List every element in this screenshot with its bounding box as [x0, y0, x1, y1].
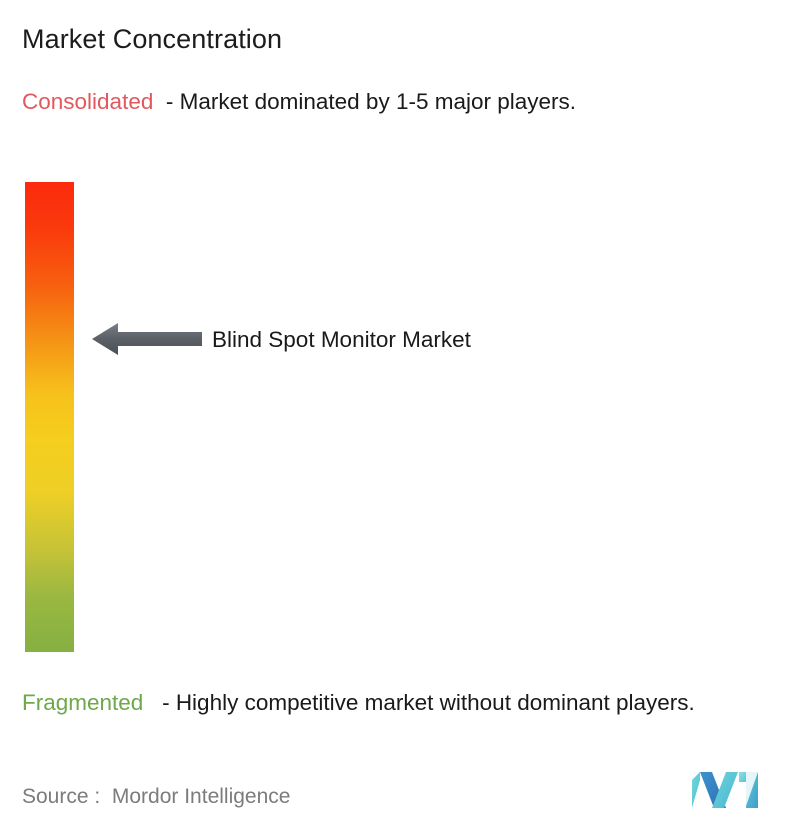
source-attribution: Source : Mordor Intelligence — [22, 783, 290, 811]
legend-fragmented-separator: - — [143, 690, 176, 715]
mordor-intelligence-logo-icon — [692, 772, 764, 808]
legend-consolidated-keyword: Consolidated — [22, 89, 153, 114]
concentration-gradient-bar — [25, 182, 74, 652]
market-position-marker: Blind Spot Monitor Market — [92, 320, 471, 358]
legend-consolidated-description: Market dominated by 1-5 major players. — [180, 89, 576, 114]
market-pointer-label: Blind Spot Monitor Market — [212, 326, 471, 354]
legend-fragmented-description: Highly competitive market without domina… — [176, 690, 695, 715]
legend-consolidated: Consolidated - Market dominated by 1-5 m… — [22, 86, 774, 118]
legend-fragmented-keyword: Fragmented — [22, 690, 143, 715]
legend-consolidated-separator: - — [153, 89, 179, 114]
legend-fragmented: Fragmented - Highly competitive market w… — [22, 687, 788, 719]
page-title: Market Concentration — [22, 22, 282, 56]
mordor-intelligence-logo — [692, 772, 764, 808]
left-arrow-icon — [92, 320, 202, 358]
